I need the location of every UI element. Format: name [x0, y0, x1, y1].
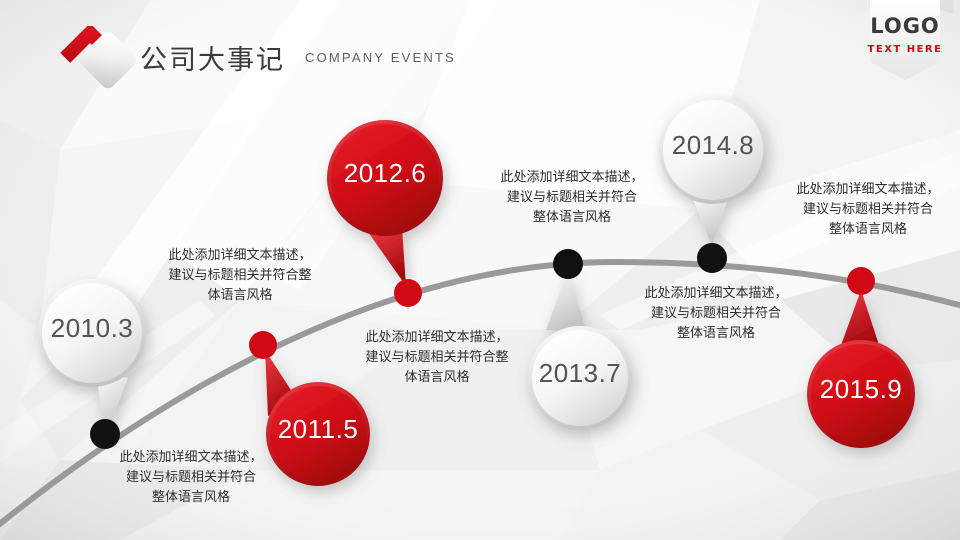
timeline-node-2011-5	[249, 331, 277, 359]
milestone-description-2015-9: 此处添加详细文本描述， 建议与标题相关并符合 整体语言风格	[778, 180, 958, 240]
year-label-2010-3: 2010.3	[22, 313, 162, 344]
slide-canvas: 公司大事记 COMPANY EVENTS LOGO TEXT HERE	[0, 0, 960, 540]
milestone-marker-2014-8	[659, 96, 767, 246]
year-label-2011-5: 2011.5	[248, 414, 388, 445]
milestone-description-2014-8: 此处添加详细文本描述， 建议与标题相关并符合 整体语言风格	[626, 284, 806, 344]
timeline-node-2015-9	[847, 267, 875, 295]
year-label-2013-7: 2013.7	[510, 358, 650, 389]
timeline-node-2010-3	[90, 419, 120, 449]
timeline-node-2013-7	[553, 249, 583, 279]
timeline-node-2014-8	[697, 243, 727, 273]
milestone-marker-2010-3	[38, 279, 146, 438]
year-label-2012-6: 2012.6	[315, 158, 455, 189]
milestone-marker-2015-9	[807, 290, 915, 448]
milestone-description-2010-3: 此处添加详细文本描述， 建议与标题相关并符合整 体语言风格	[152, 246, 328, 306]
milestone-description-2013-7: 此处添加详细文本描述， 建议与标题相关并符合 整体语言风格	[484, 168, 660, 228]
year-label-2014-8: 2014.8	[643, 130, 783, 161]
milestone-description-2011-5: 此处添加详细文本描述， 建议与标题相关并符合 整体语言风格	[98, 448, 284, 508]
milestone-marker-2012-6	[327, 120, 443, 286]
milestone-marker-2013-7	[528, 270, 632, 430]
milestone-description-2012-6: 此处添加详细文本描述， 建议与标题相关并符合整 体语言风格	[344, 328, 530, 388]
timeline-node-2012-6	[394, 279, 422, 307]
year-label-2015-9: 2015.9	[791, 374, 931, 405]
